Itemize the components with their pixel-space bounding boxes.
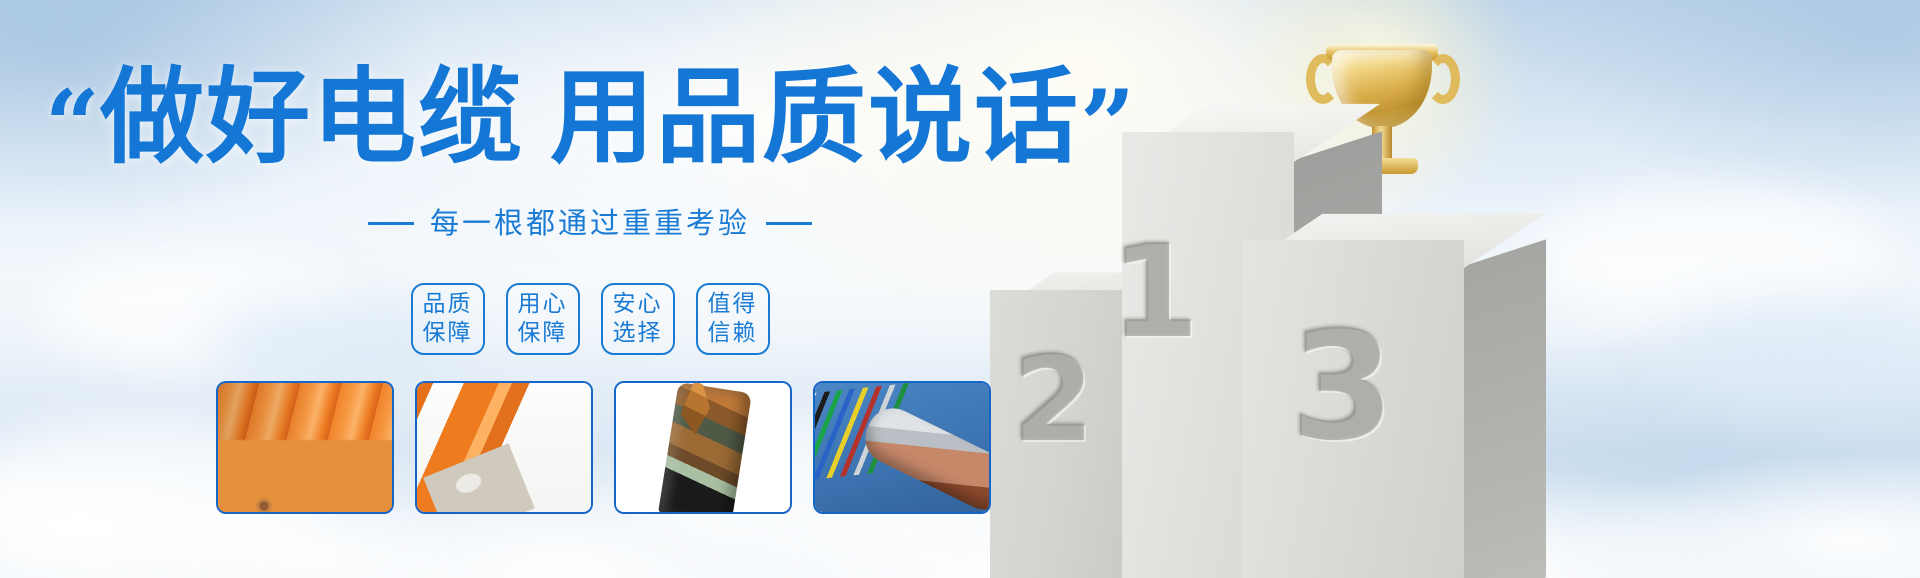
trust-badge-line-1: 值得 <box>708 290 758 319</box>
trust-badge[interactable]: 品质 保障 <box>411 283 485 355</box>
product-thumbnail[interactable] <box>813 381 991 514</box>
trust-badge-line-1: 安心 <box>613 290 663 319</box>
headline-part-2: 用品质说话 <box>550 56 1080 178</box>
subtitle-text: 每一根都通过重重考验 <box>430 206 750 240</box>
page-subtitle: 每一根都通过重重考验 <box>0 200 1180 242</box>
trust-badge[interactable]: 值得 信赖 <box>696 283 770 355</box>
trust-badge[interactable]: 安心 选择 <box>601 283 675 355</box>
rule-right <box>766 222 812 225</box>
product-thumbnail[interactable] <box>415 381 593 514</box>
podium-numeral-3: 3 <box>1290 300 1394 474</box>
headline-block: “做好电缆用品质说话” 每一根都通过重重考验 品质 保障 用心 保障 安心 选择… <box>0 0 1180 380</box>
trust-badge[interactable]: 用心 保障 <box>506 283 580 355</box>
page-title: “做好电缆用品质说话” <box>0 62 1180 177</box>
orange-jacketed-cable-image <box>417 383 591 512</box>
promo-banner: 1 2 3 “做好电缆用品质说话” 每一根都通过重重考验 品质 保障 用心 保障… <box>0 0 1920 578</box>
trust-badge-line-2: 保障 <box>518 319 568 348</box>
open-quote-mark: “ <box>45 69 100 182</box>
rule-left <box>368 222 414 225</box>
black-armoured-copper-cable-image <box>616 383 790 512</box>
close-quote-mark: ” <box>1080 69 1135 182</box>
trust-badge-line-2: 信赖 <box>708 319 758 348</box>
product-thumbnail[interactable] <box>614 381 792 514</box>
trust-badge-line-2: 保障 <box>423 319 473 348</box>
headline-part-1: 做好电缆 <box>100 56 524 178</box>
trust-badge-list: 品质 保障 用心 保障 安心 选择 值得 信赖 <box>0 283 1180 355</box>
multicolour-shielded-cable-image <box>815 383 989 512</box>
product-thumbnail[interactable] <box>216 381 394 514</box>
trust-badge-line-1: 用心 <box>518 290 568 319</box>
podium-block-3-side <box>1464 239 1546 578</box>
trust-badge-line-2: 选择 <box>613 319 663 348</box>
product-thumbnail-list <box>216 381 991 514</box>
orange-coiled-cable-image <box>218 383 392 512</box>
trust-badge-line-1: 品质 <box>423 290 473 319</box>
